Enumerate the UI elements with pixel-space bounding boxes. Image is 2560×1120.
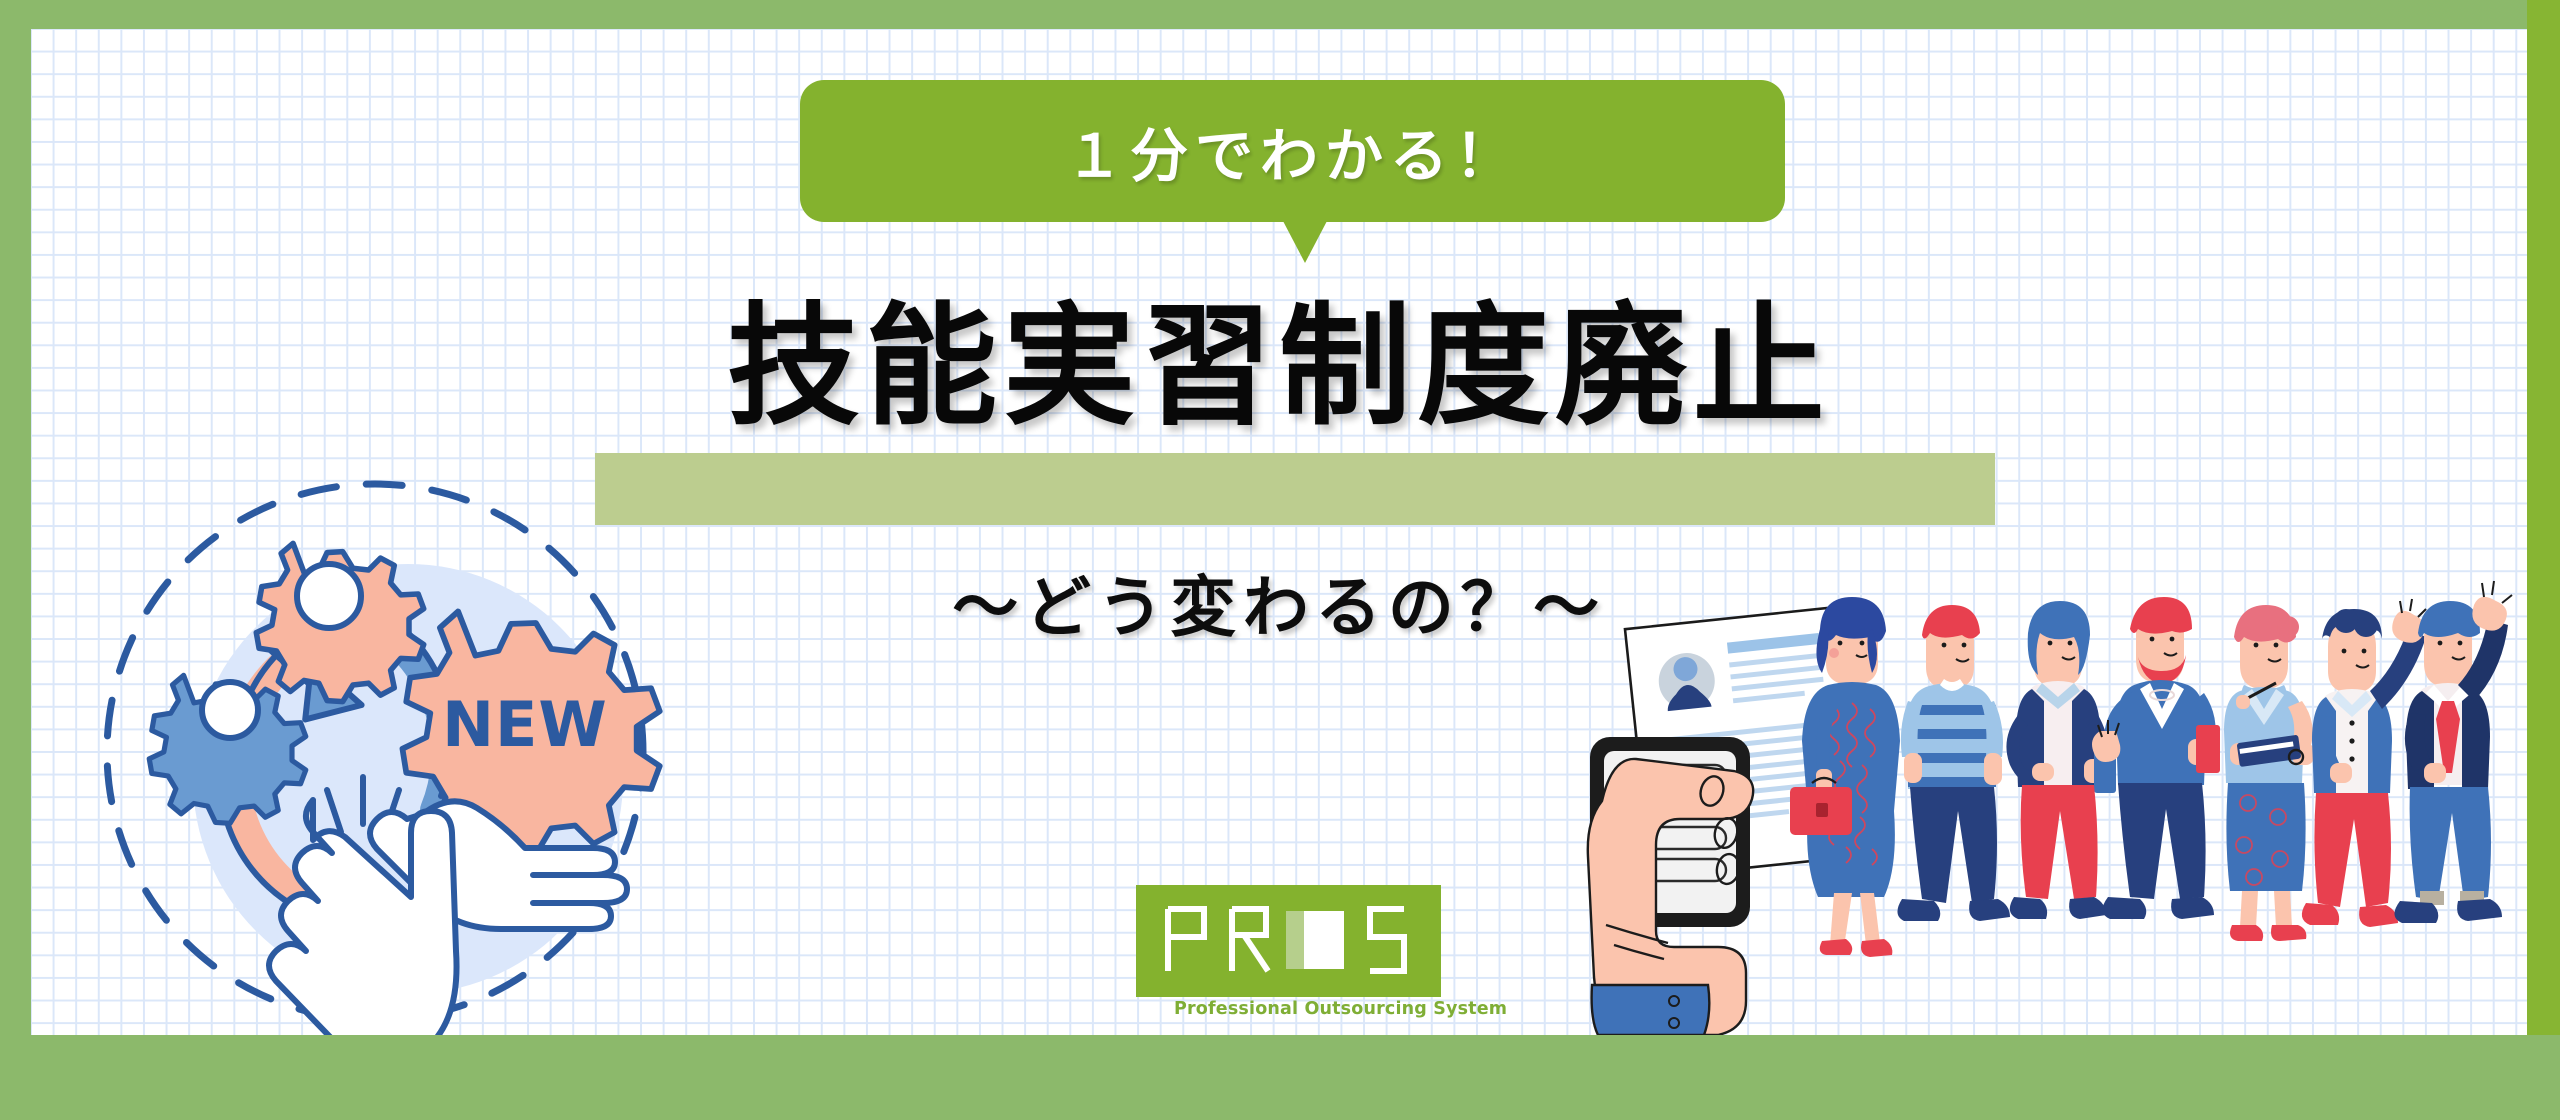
banner-root: NEW (0, 0, 2560, 1120)
pros-logo-mark (1136, 885, 1441, 997)
page-title: 技能実習制度廃止 (31, 294, 2527, 442)
hand-holding-phone (1588, 737, 1753, 1035)
red-book (2196, 725, 2220, 773)
frame-top-edge (0, 0, 2560, 29)
pros-logo: Professional Outsourcing System (1136, 885, 1466, 1035)
page-subtitle: 〜どう変わるの？〜 (31, 554, 2527, 650)
person-woman-notepad (2224, 605, 2314, 941)
hand-sleeve (1592, 985, 1710, 1035)
pros-logo-tagline: Professional Outsourcing System (1174, 999, 1507, 1019)
bubble-tail (1283, 221, 1327, 263)
info-badge-label: １分でわかる！ (1065, 109, 1520, 193)
logo-letter-s (1370, 909, 1404, 971)
grid-paper-canvas: NEW (31, 29, 2527, 1035)
person-man-striped (1897, 605, 2010, 921)
logo-letter-o-block (1286, 911, 1344, 969)
gear-new-label: NEW (442, 688, 608, 761)
logo-letter-p (1168, 909, 1204, 971)
title-highlight-band (595, 453, 1995, 525)
recruitment-people-illustration (1586, 589, 2526, 1035)
info-badge-bubble: １分でわかる！ (800, 80, 1785, 222)
logo-letter-r (1232, 909, 1268, 971)
frame-right-edge (2527, 0, 2560, 1035)
